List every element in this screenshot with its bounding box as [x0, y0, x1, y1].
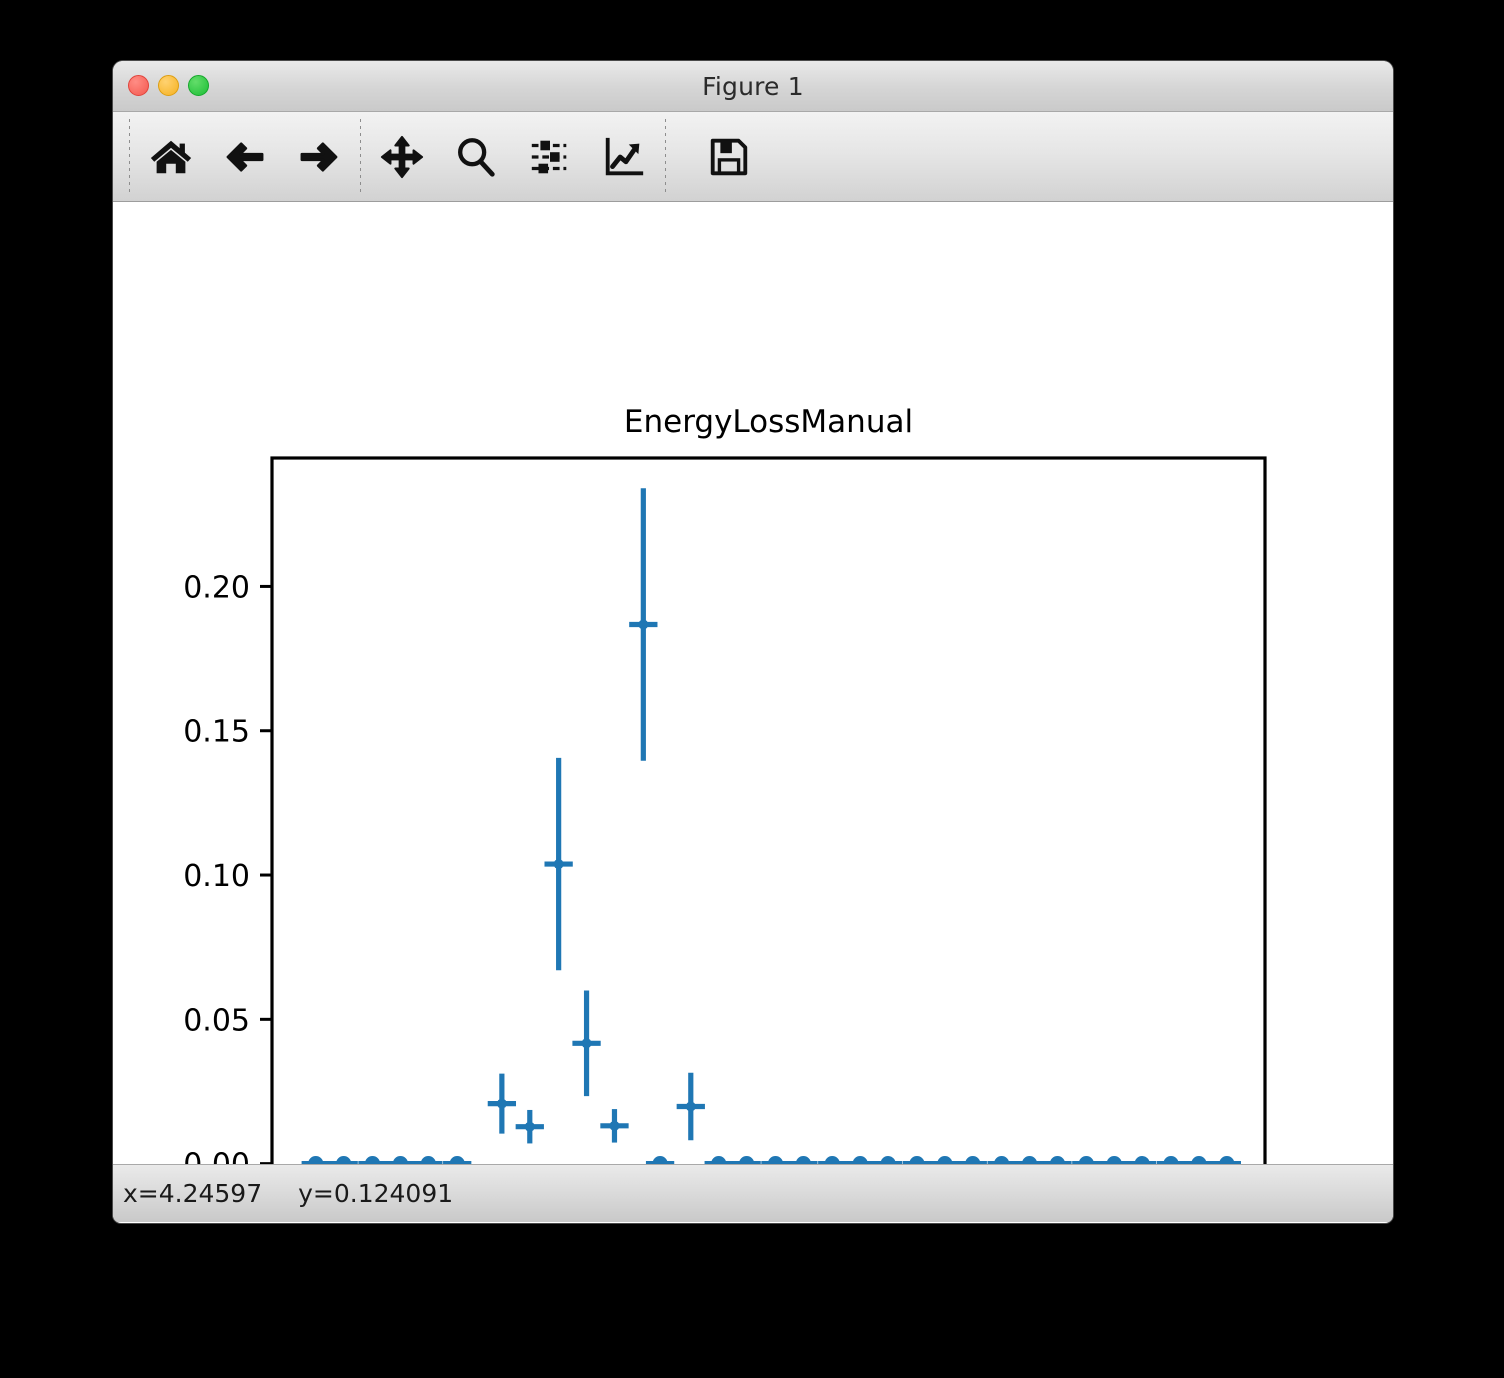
data-point[interactable] [686, 1101, 696, 1111]
data-point[interactable] [880, 1156, 895, 1164]
data-point[interactable] [796, 1156, 811, 1164]
data-point[interactable] [308, 1156, 323, 1164]
sliders-icon[interactable] [513, 120, 587, 194]
edit-axis-icon[interactable] [587, 120, 661, 194]
home-icon[interactable] [134, 120, 208, 194]
save-floppy-icon[interactable] [692, 120, 766, 194]
y-tick-label: 0.20 [183, 570, 250, 605]
data-point[interactable] [1135, 1156, 1150, 1164]
data-point[interactable] [768, 1156, 783, 1164]
forward-arrow-icon[interactable] [282, 120, 356, 194]
data-point[interactable] [909, 1156, 924, 1164]
y-coordinate-readout: y=0.124091 [298, 1179, 453, 1208]
data-point[interactable] [421, 1156, 436, 1164]
data-point[interactable] [554, 859, 564, 869]
data-point[interactable] [525, 1122, 535, 1132]
data-point[interactable] [497, 1099, 507, 1109]
toolbar-separator-right [665, 119, 666, 195]
pan-move-icon[interactable] [365, 120, 439, 194]
window-title: Figure 1 [113, 61, 1393, 112]
toolbar-separator-left [129, 119, 130, 195]
screen: Figure 1 [0, 0, 1504, 1378]
y-tick-label: 0.00 [183, 1148, 250, 1164]
figure-canvas[interactable]: EnergyLossManual02468100.000.050.100.150… [113, 202, 1393, 1164]
data-point[interactable] [739, 1156, 754, 1164]
coordinate-statusbar: x=4.24597 y=0.124091 [113, 1164, 1393, 1222]
back-arrow-icon[interactable] [208, 120, 282, 194]
data-point[interactable] [1107, 1156, 1122, 1164]
data-point[interactable] [582, 1038, 592, 1048]
data-point[interactable] [609, 1121, 619, 1131]
window-titlebar[interactable]: Figure 1 [113, 61, 1393, 112]
data-point[interactable] [1219, 1156, 1234, 1164]
plot-area[interactable]: EnergyLossManual02468100.000.050.100.150… [113, 202, 1393, 1164]
data-point[interactable] [393, 1156, 408, 1164]
data-point[interactable] [853, 1156, 868, 1164]
matplotlib-toolbar [113, 112, 1393, 202]
data-point[interactable] [937, 1156, 952, 1164]
data-point[interactable] [450, 1156, 465, 1164]
y-tick-label: 0.10 [183, 859, 250, 894]
x-coordinate-readout: x=4.24597 [123, 1179, 262, 1208]
data-series [302, 488, 1241, 1164]
toolbar-separator-middle [360, 119, 361, 195]
data-point[interactable] [965, 1156, 980, 1164]
data-point[interactable] [825, 1156, 840, 1164]
chart-title: EnergyLossManual [624, 404, 913, 440]
y-tick-label: 0.15 [183, 715, 250, 750]
data-point[interactable] [1022, 1156, 1037, 1164]
data-point[interactable] [1079, 1156, 1094, 1164]
y-tick-label: 0.05 [183, 1003, 250, 1038]
data-point[interactable] [1050, 1156, 1065, 1164]
data-point[interactable] [1163, 1156, 1178, 1164]
data-point[interactable] [1191, 1156, 1206, 1164]
data-point[interactable] [365, 1156, 380, 1164]
data-point[interactable] [711, 1156, 726, 1164]
data-point[interactable] [994, 1156, 1009, 1164]
figure-window: Figure 1 [113, 61, 1393, 1223]
axes-frame [272, 458, 1265, 1164]
data-point[interactable] [336, 1156, 351, 1164]
zoom-magnifier-icon[interactable] [439, 120, 513, 194]
data-point[interactable] [638, 620, 648, 630]
data-point[interactable] [652, 1156, 667, 1164]
